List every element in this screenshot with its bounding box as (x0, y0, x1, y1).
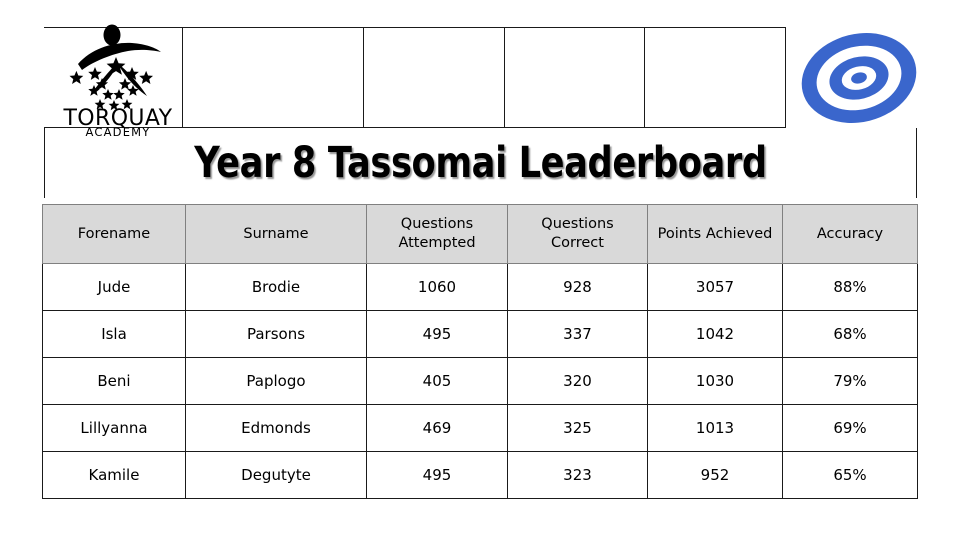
cell-surname: Parsons (186, 311, 367, 358)
cell-forename: Beni (43, 358, 186, 405)
table-row: Kamile Degutyte 495 323 952 65% (43, 452, 918, 499)
column-header-forename[interactable]: Forename (43, 205, 186, 264)
cell-questions-correct: 323 (508, 452, 648, 499)
cell-surname: Edmonds (186, 405, 367, 452)
cell-points-achieved: 1013 (648, 405, 783, 452)
cell-questions-correct: 337 (508, 311, 648, 358)
cell-questions-attempted: 469 (367, 405, 508, 452)
column-header-points-achieved[interactable]: Points Achieved (648, 205, 783, 264)
cell-points-achieved: 3057 (648, 264, 783, 311)
banner-cell-3 (364, 28, 505, 127)
cell-forename: Jude (43, 264, 186, 311)
banner-cell-2 (183, 28, 364, 127)
banner-cell-4 (505, 28, 645, 127)
cell-questions-correct: 325 (508, 405, 648, 452)
cell-questions-attempted: 405 (367, 358, 508, 405)
slide-canvas: TORQUAY ACADEMY Year 8 Tassomai Leaderbo… (0, 0, 960, 540)
cell-surname: Paplogo (186, 358, 367, 405)
column-header-surname[interactable]: Surname (186, 205, 367, 264)
cell-points-achieved: 1030 (648, 358, 783, 405)
cell-accuracy: 88% (783, 264, 918, 311)
column-header-accuracy[interactable]: Accuracy (783, 205, 918, 264)
column-header-questions-correct[interactable]: Questions Correct (508, 205, 648, 264)
torquay-academy-logo: TORQUAY ACADEMY (62, 22, 174, 137)
cell-points-achieved: 952 (648, 452, 783, 499)
cell-accuracy: 68% (783, 311, 918, 358)
cell-accuracy: 69% (783, 405, 918, 452)
cell-questions-attempted: 495 (367, 311, 508, 358)
torquay-logo-line2: ACADEMY (85, 125, 150, 137)
table-row: Lillyanna Edmonds 469 325 1013 69% (43, 405, 918, 452)
table-row: Isla Parsons 495 337 1042 68% (43, 311, 918, 358)
cell-accuracy: 65% (783, 452, 918, 499)
cell-forename: Isla (43, 311, 186, 358)
tassomai-target-logo (798, 26, 920, 130)
table-header-row: Forename Surname Questions Attempted Que… (43, 205, 918, 264)
cell-forename: Lillyanna (43, 405, 186, 452)
cell-accuracy: 79% (783, 358, 918, 405)
page-title: Year 8 Tassomai Leaderboard (123, 134, 839, 192)
cell-questions-attempted: 495 (367, 452, 508, 499)
leaderboard-table-wrapper: Forename Surname Questions Attempted Que… (42, 204, 917, 499)
table-row: Beni Paplogo 405 320 1030 79% (43, 358, 918, 405)
cell-forename: Kamile (43, 452, 186, 499)
table-row: Jude Brodie 1060 928 3057 88% (43, 264, 918, 311)
cell-questions-correct: 320 (508, 358, 648, 405)
banner-cell-5 (645, 28, 786, 127)
cell-surname: Brodie (186, 264, 367, 311)
cell-points-achieved: 1042 (648, 311, 783, 358)
leaderboard-table: Forename Surname Questions Attempted Que… (42, 204, 918, 499)
column-header-questions-attempted[interactable]: Questions Attempted (367, 205, 508, 264)
cell-questions-correct: 928 (508, 264, 648, 311)
cell-questions-attempted: 1060 (367, 264, 508, 311)
cell-surname: Degutyte (186, 452, 367, 499)
